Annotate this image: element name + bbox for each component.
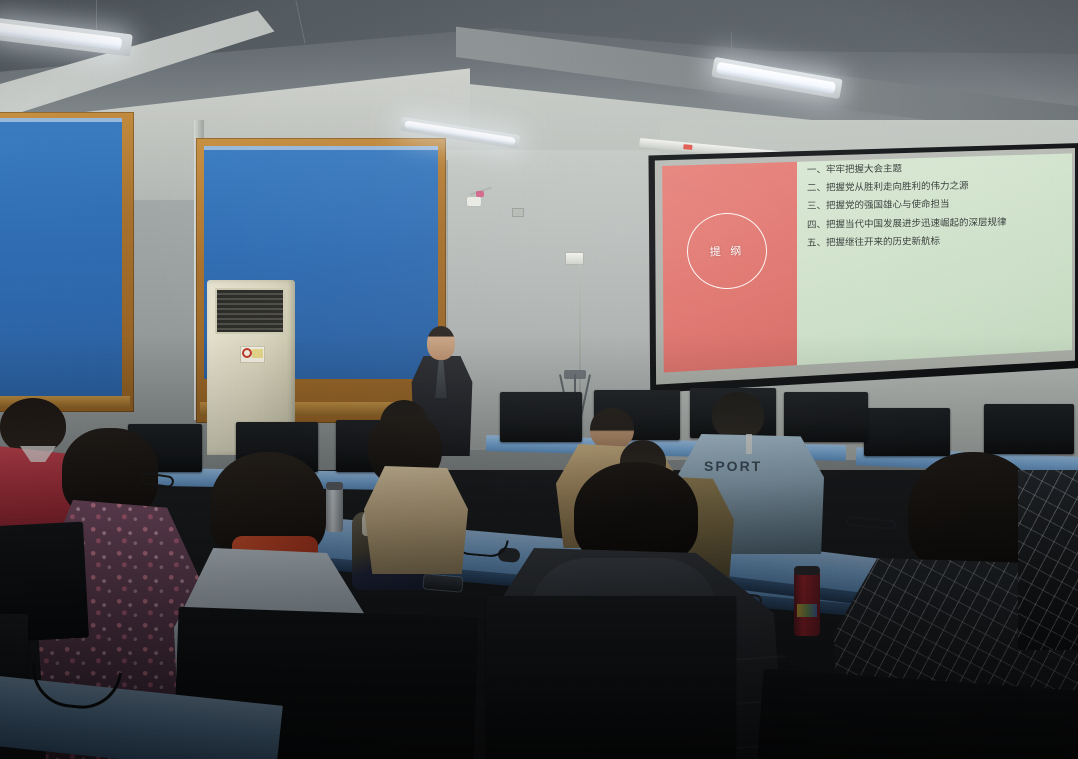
monitor-back-r1 — [864, 408, 950, 456]
air-conditioner-grille — [215, 288, 285, 334]
thermos-left-cap — [326, 482, 343, 490]
attendee-sport-text: SPORT — [704, 458, 762, 474]
attendee-far-right-body — [1018, 470, 1078, 650]
wall-outlet-icon — [512, 208, 524, 217]
light-hanger-wire-1 — [96, 0, 97, 34]
roller-marker-icon — [683, 144, 692, 150]
glasses-on-desk-far[interactable] — [846, 516, 897, 530]
presentation-slide: 提 纲 一、牢牢把握大会主题 二、把握党从胜利走向胜利的伟力之源 三、把握党的强… — [658, 152, 1072, 377]
monitor-back-r2 — [984, 404, 1074, 454]
monitor-r3-4 — [784, 392, 868, 442]
window-left — [0, 112, 134, 412]
classroom-photo: 提 纲 一、牢牢把握大会主题 二、把握党从胜利走向胜利的伟力之源 三、把握党的强… — [0, 0, 1078, 759]
slide-accent-panel: 提 纲 — [658, 152, 797, 377]
attendee-sport-head — [712, 392, 764, 440]
attendee-sport-lanyard — [746, 434, 752, 454]
monitor-r3-1 — [500, 392, 582, 442]
thermos-right-label — [797, 604, 817, 617]
thermos-left[interactable] — [326, 486, 343, 532]
window-blind-left[interactable] — [0, 118, 122, 400]
slide-badge-circle: 提 纲 — [686, 212, 769, 291]
attendee-beige-body — [364, 466, 468, 574]
slide-content-panel: 一、牢牢把握大会主题 二、把握党从胜利走向胜利的伟力之源 三、把握党的强国雄心与… — [797, 152, 1072, 377]
attendee-red-head — [0, 398, 66, 454]
monitor-foreground-center — [486, 596, 736, 759]
slide-line-5: 五、把握继往开来的历史新航标 — [807, 231, 1068, 253]
presenter-head — [427, 326, 455, 360]
slide-badge-label: 提 纲 — [710, 242, 745, 259]
attendee-tan-coat-head — [590, 408, 634, 450]
thermos-right[interactable] — [794, 570, 820, 636]
camera-indicator-icon — [476, 191, 484, 197]
corner-camera-icon — [466, 196, 482, 207]
thermos-right-cap — [794, 566, 820, 575]
phone-on-desk[interactable] — [423, 574, 462, 591]
wall-speaker-box — [565, 252, 584, 265]
warning-sticker-icon — [240, 346, 265, 363]
